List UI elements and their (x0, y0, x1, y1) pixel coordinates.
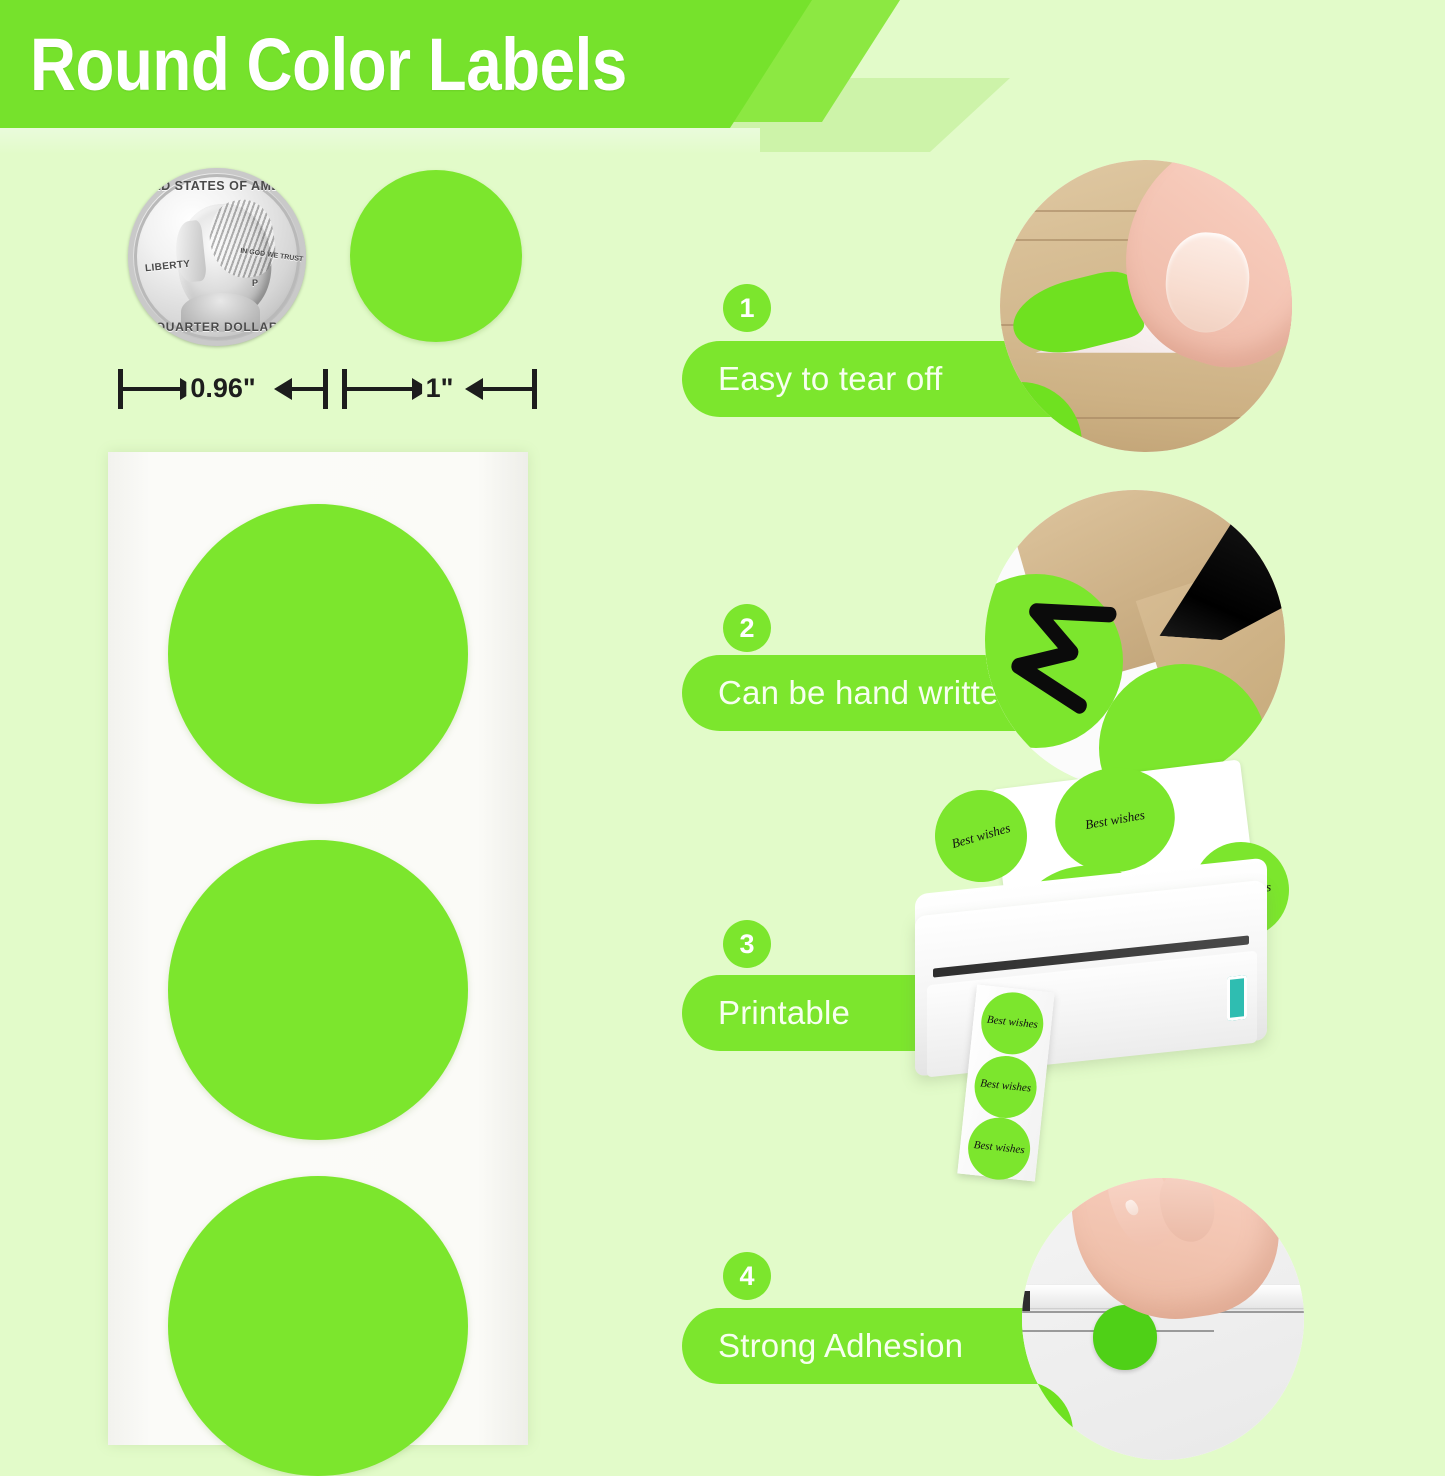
label-dimension-label: 1" (422, 373, 458, 404)
surface-marker-dark (1022, 1291, 1030, 1311)
coin-legend-top: UNITED STATES OF AMERICA (128, 179, 306, 193)
header-fade (0, 128, 760, 154)
tear-off-photo (1000, 160, 1292, 452)
feature-label-3: Printable (682, 994, 850, 1032)
page-title: Round Color Labels (30, 22, 627, 107)
feature-number-badge: 1 (723, 284, 771, 332)
arrow-left-icon (274, 378, 292, 400)
coin-legend-liberty: LIBERTY (145, 259, 191, 275)
printer-power-button (1227, 975, 1247, 1021)
strip-label-dot (168, 1176, 468, 1476)
coin-legend-motto: IN GOD WE TRUST (240, 248, 304, 264)
printable-photo: Best wishes Best wishes Best wishes Best… (905, 780, 1305, 1180)
printed-label: Best wishes (972, 1053, 1040, 1121)
dimension-bar-right (480, 387, 532, 391)
strip-label-dot (168, 504, 468, 804)
marker-highlight (1258, 490, 1285, 537)
dimension-cap-right (532, 369, 537, 409)
arrow-left-icon (465, 378, 483, 400)
size-comparison: UNITED STATES OF AMERICA LIBERTY IN GOD … (110, 168, 550, 418)
feature-label-4: Strong Adhesion (682, 1327, 963, 1365)
dimension-cap-right (323, 369, 328, 409)
feature-number-badge: 3 (723, 920, 771, 968)
coin-dimension-callout: 0.96" (118, 366, 328, 412)
round-label-sample (350, 170, 522, 342)
quarter-coin-icon: UNITED STATES OF AMERICA LIBERTY IN GOD … (128, 168, 306, 346)
hand-written-photo (985, 490, 1285, 790)
feature-number-badge: 4 (723, 1252, 771, 1300)
strip-label-dot (168, 840, 468, 1140)
printed-label: Best wishes (965, 1115, 1033, 1183)
coin-inscriptions: UNITED STATES OF AMERICA LIBERTY IN GOD … (128, 168, 306, 346)
coin-legend-bottom: QUARTER DOLLAR (156, 320, 278, 334)
feature-number-badge: 2 (723, 604, 771, 652)
infographic-page: Round Color Labels UNITED STATES OF AMER… (0, 0, 1445, 1445)
coin-dimension-label: 0.96" (186, 373, 259, 404)
feature-label-1: Easy to tear off (682, 360, 943, 398)
feature-pill-4: Strong Adhesion (682, 1308, 1052, 1384)
fingernail (1162, 229, 1254, 336)
fingernail (1122, 1198, 1140, 1218)
coin-mint-mark: P (252, 278, 258, 288)
printed-label: Best wishes (978, 989, 1046, 1057)
header-banner: Round Color Labels (0, 0, 1445, 152)
dimension-bar-left (347, 387, 415, 391)
feature-label-2: Can be hand written (682, 674, 1017, 712)
label-dimension-callout: 1" (342, 366, 537, 412)
dimension-bar-left (123, 387, 183, 391)
strong-adhesion-photo (1022, 1178, 1304, 1460)
dimension-bar-right (289, 387, 323, 391)
label-roll-strip (108, 452, 528, 1445)
